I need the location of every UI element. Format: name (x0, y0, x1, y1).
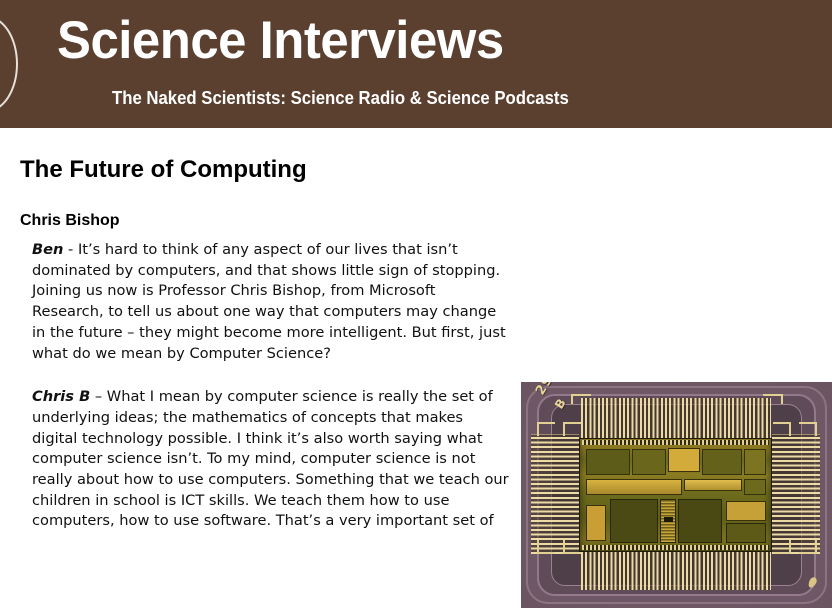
site-title: Science Interviews (57, 10, 504, 72)
die-functional-block (726, 523, 766, 543)
lead-frame-bracket-tr (773, 422, 791, 436)
speaker-label: Ben (32, 241, 63, 258)
die-pad-row-bottom (582, 545, 769, 550)
bond-wire-fan-left (531, 434, 579, 554)
silicon-die (579, 438, 772, 552)
die-functional-block (586, 505, 606, 541)
die-memory-array (610, 499, 658, 543)
speaker-label: Chris B (32, 388, 90, 405)
lead-frame-bracket-tl2 (563, 422, 581, 436)
bond-wire-fan-bottom (581, 550, 771, 590)
lead-frame-bracket-top-mid-r (763, 394, 783, 404)
transcript-entry: Chris B – What I mean by computer scienc… (32, 387, 510, 532)
lead-frame-bracket-bl (537, 540, 555, 554)
die-pad-row-top (582, 440, 769, 445)
lead-frame-bracket-tl (537, 422, 555, 436)
interview-transcript: Ben - It’s hard to think of any aspect o… (32, 240, 510, 555)
die-functional-block (586, 449, 630, 475)
transcript-text: It’s hard to think of any aspect of our … (32, 241, 506, 362)
speaker-separator: – (90, 388, 107, 405)
bond-wire-fan-right (772, 434, 820, 554)
die-contact-pad (664, 517, 673, 522)
die-functional-block (668, 448, 700, 472)
page-title: The Future of Computing (20, 156, 307, 184)
speaker-separator: - (63, 241, 78, 258)
article-body: The Future of Computing Chris Bishop Ben… (0, 128, 832, 497)
die-functional-block (632, 449, 666, 475)
article-byline: Chris Bishop (20, 211, 120, 231)
die-functional-block (744, 479, 766, 495)
bond-wire-fan-top (581, 398, 771, 438)
lead-frame-bracket-top-mid (571, 394, 591, 404)
die-functional-block (702, 449, 742, 475)
transcript-entry: Ben - It’s hard to think of any aspect o… (32, 240, 510, 364)
transcript-text: What I mean by computer science is reall… (32, 388, 509, 529)
die-functional-block (744, 449, 766, 475)
die-bus-strip (684, 479, 742, 491)
microchip-die-photograph: 2988 B (521, 382, 832, 608)
site-masthead: Science Interviews The Naked Scientists:… (0, 0, 832, 128)
site-subtitle: The Naked Scientists: Science Radio & Sc… (112, 87, 569, 109)
lead-frame-bracket-br2 (799, 540, 817, 554)
lead-frame-bracket-br (773, 540, 791, 554)
lead-frame-bracket-tr2 (799, 422, 817, 436)
die-bus-strip (586, 479, 682, 495)
naked-scientists-circle-logo-icon (0, 16, 18, 112)
die-functional-block (726, 501, 766, 521)
die-memory-array (678, 499, 722, 543)
